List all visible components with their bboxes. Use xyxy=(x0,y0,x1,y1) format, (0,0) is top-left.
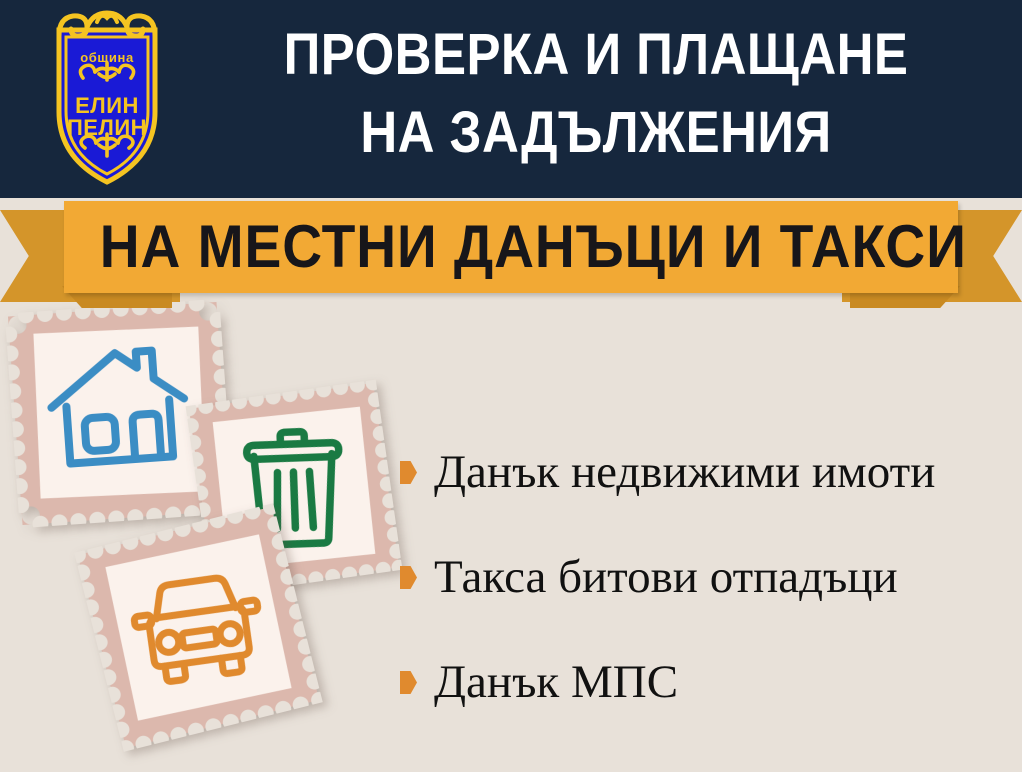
obligation-type-list: Данък недвижими имоти Такса битови отпад… xyxy=(400,420,1020,735)
header-banner: община ЕЛИН ПЕЛИН ПРОВЕРКА И ПЛАЩАНЕ НА … xyxy=(0,0,1022,198)
subtitle-ribbon: НА МЕСТНИ ДАНЪЦИ И ТАКСИ xyxy=(0,198,1022,310)
page-title-line-1: ПРОВЕРКА И ПЛАЩАНЕ xyxy=(239,16,954,94)
page-title: ПРОВЕРКА И ПЛАЩАНЕ НА ЗАДЪЛЖЕНИЯ xyxy=(239,16,954,172)
arrow-bullet-icon xyxy=(400,671,417,694)
list-item[interactable]: Такса битови отпадъци xyxy=(400,525,1020,630)
arrow-bullet-icon xyxy=(400,461,417,484)
page-title-line-2: НА ЗАДЪЛЖЕНИЯ xyxy=(239,94,954,172)
crest-name-line-2: ПЕЛИН xyxy=(67,115,147,140)
municipality-crest: община ЕЛИН ПЕЛИН xyxy=(37,8,177,190)
list-item-label: Данък недвижими имоти xyxy=(434,448,935,497)
list-item[interactable]: Данък недвижими имоти xyxy=(400,420,1020,525)
crest-top-label: община xyxy=(80,50,134,65)
list-item-label: Данък МПС xyxy=(434,658,678,707)
list-item[interactable]: Данък МПС xyxy=(400,630,1020,735)
ribbon-label: НА МЕСТНИ ДАНЪЦИ И ТАКСИ xyxy=(100,201,922,293)
list-item-label: Такса битови отпадъци xyxy=(434,553,898,602)
stamp-group xyxy=(0,300,430,772)
arrow-bullet-icon xyxy=(400,566,417,589)
poster-canvas: община ЕЛИН ПЕЛИН ПРОВЕРКА И ПЛАЩАНЕ НА … xyxy=(0,0,1022,772)
